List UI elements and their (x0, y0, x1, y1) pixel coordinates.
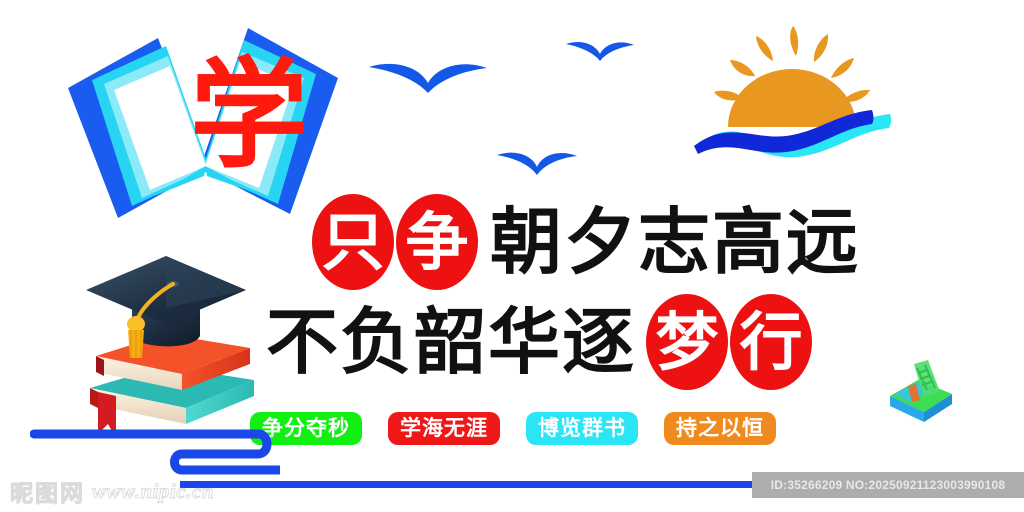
watermark-site-url: www.nipic.cn (92, 479, 214, 504)
sun-disc (728, 69, 856, 127)
badge-bolanqunshu-label: 博览群书 (538, 417, 626, 439)
circled-char-zheng: 争 (396, 194, 478, 290)
circled-char-zheng-label: 争 (406, 211, 469, 274)
graduation-cap (86, 256, 246, 346)
circled-char-xing-label: 行 (740, 311, 803, 374)
graduation-cap-books-graphic (74, 248, 269, 433)
badge-chizhiyiheng[interactable]: 持之以恒 (664, 412, 776, 445)
watermark-site: 昵图网 www.nipic.cn (10, 474, 214, 508)
slogan-line-1-text: 朝夕志高远 (490, 206, 860, 278)
poster-canvas: 学 (0, 0, 1024, 512)
circled-char-zhi: 只 (312, 194, 394, 290)
circled-char-meng-label: 梦 (656, 311, 719, 374)
watermark-id-text: ID:35266209 NO:20250921123003990108 (771, 478, 1006, 492)
slogan-line-1: 只 争 朝夕志高远 (312, 192, 860, 292)
blue-hook-line (30, 424, 280, 480)
feature-character: 学 (190, 56, 308, 174)
circled-char-xing: 行 (730, 294, 812, 390)
slogan-line-2-text: 不负韶华逐 (266, 306, 636, 378)
bird-left-icon (367, 57, 489, 102)
badge-xuehaiwuya-label: 学海无涯 (400, 417, 488, 439)
sun-wave-graphic (686, 22, 906, 162)
slogan-line-2: 不负韶华逐 梦 行 (266, 292, 814, 392)
bird-bottom-icon (496, 148, 578, 183)
watermark-site-cn: 昵图网 (10, 474, 85, 508)
badge-bolanqunshu[interactable]: 博览群书 (526, 412, 638, 445)
circled-char-zhi-label: 只 (322, 211, 385, 274)
badge-chizhiyiheng-label: 持之以恒 (676, 417, 764, 439)
circled-char-meng: 梦 (646, 294, 728, 390)
watermark-id-bar: ID:35266209 NO:20250921123003990108 (752, 472, 1024, 498)
slogan-block: 只 争 朝夕志高远 不负韶华逐 梦 行 (266, 188, 906, 398)
badge-xuehaiwuya[interactable]: 学海无涯 (388, 412, 500, 445)
badge-row: 争分夺秒 学海无涯 博览群书 持之以恒 (250, 412, 776, 445)
bird-right-icon (565, 38, 635, 69)
